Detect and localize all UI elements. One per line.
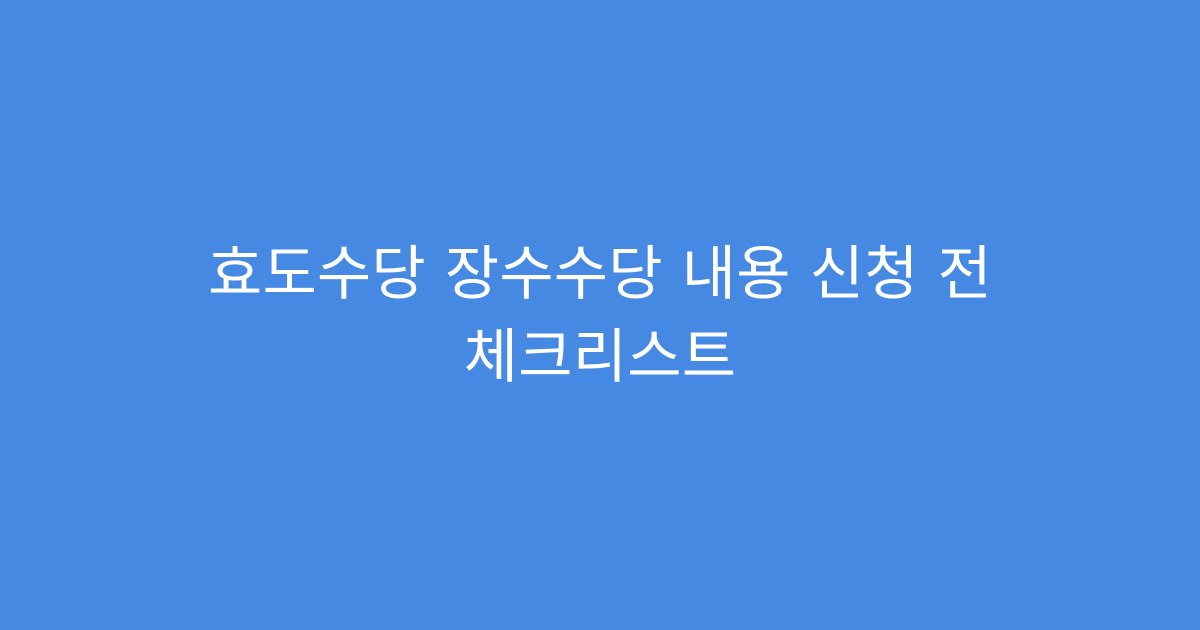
page-title: 효도수당 장수수당 내용 신청 전 체크리스트 — [160, 232, 1040, 398]
title-block: 효도수당 장수수당 내용 신청 전 체크리스트 — [150, 232, 1050, 398]
thumbnail-card: 효도수당 장수수당 내용 신청 전 체크리스트 — [0, 0, 1200, 630]
